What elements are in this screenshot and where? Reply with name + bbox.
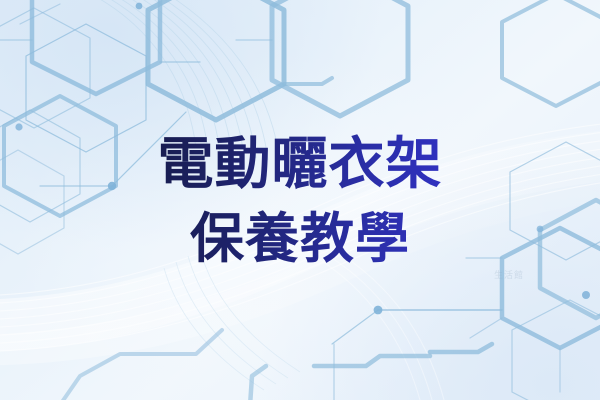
title-line-2: 保養教學 bbox=[0, 202, 600, 276]
title-line-1: 電動曬衣架 bbox=[0, 128, 600, 202]
title-card-canvas: 電動曬衣架 保養教學 生活館 bbox=[0, 0, 600, 400]
title-block: 電動曬衣架 保養教學 bbox=[0, 128, 600, 276]
